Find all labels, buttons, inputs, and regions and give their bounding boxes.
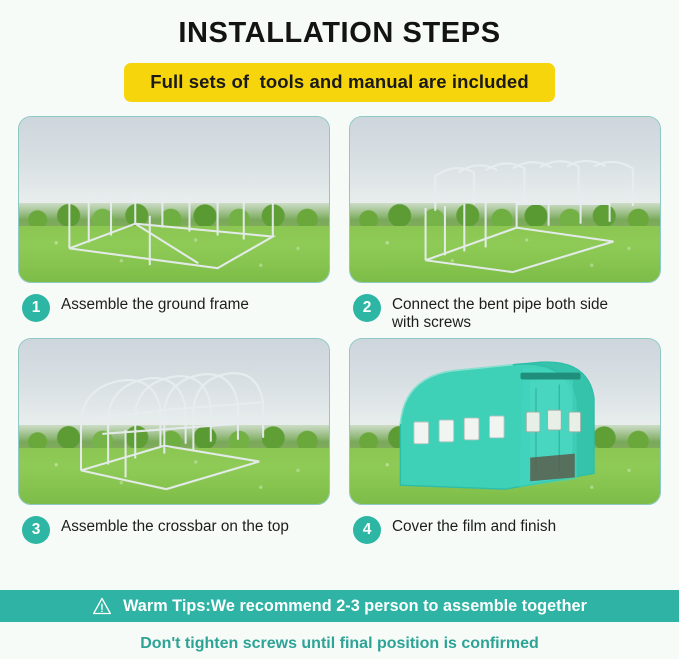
step-1-badge: 1 bbox=[22, 294, 50, 322]
step-4-caption-row: 4 Cover the film and finish bbox=[349, 505, 661, 557]
bent-pipe-illustration bbox=[350, 117, 660, 282]
step-3-photo bbox=[18, 338, 330, 505]
step-2-caption: Connect the bent pipe both side with scr… bbox=[392, 293, 608, 332]
step-4-caption: Cover the film and finish bbox=[392, 515, 556, 536]
step-2-badge: 2 bbox=[353, 294, 381, 322]
step-3-caption-row: 3 Assemble the crossbar on the top bbox=[18, 505, 330, 557]
ground-frame-illustration bbox=[19, 117, 329, 282]
steps-grid: 1 Assemble the ground frame bbox=[0, 116, 679, 557]
step-4-photo bbox=[349, 338, 661, 505]
warning-triangle-icon bbox=[92, 596, 112, 616]
step-card-2: 2 Connect the bent pipe both side with s… bbox=[349, 116, 661, 336]
step-card-1: 1 Assemble the ground frame bbox=[18, 116, 330, 336]
page-title: INSTALLATION STEPS bbox=[0, 0, 679, 50]
step-2-caption-row: 2 Connect the bent pipe both side with s… bbox=[349, 283, 661, 336]
step-4-badge: 4 bbox=[353, 516, 381, 544]
step-1-photo bbox=[18, 116, 330, 283]
step-card-4: 4 Cover the film and finish bbox=[349, 338, 661, 557]
greenhouse-body bbox=[400, 362, 594, 489]
step-3-badge: 3 bbox=[22, 516, 50, 544]
step-1-caption-row: 1 Assemble the ground frame bbox=[18, 283, 330, 335]
crossbar-frame-illustration bbox=[19, 339, 329, 504]
step-card-3: 3 Assemble the crossbar on the top bbox=[18, 338, 330, 557]
warm-tips-text: Warm Tips:We recommend 2-3 person to ass… bbox=[123, 597, 587, 616]
warm-tips-bar: Warm Tips:We recommend 2-3 person to ass… bbox=[0, 590, 679, 622]
step-2-photo bbox=[349, 116, 661, 283]
footnote-text: Don't tighten screws until final positio… bbox=[0, 635, 679, 653]
installation-steps-page: INSTALLATION STEPS Full sets of tools an… bbox=[0, 0, 679, 659]
finished-greenhouse-illustration bbox=[350, 339, 660, 504]
step-1-caption: Assemble the ground frame bbox=[61, 293, 249, 314]
banner-row: Full sets of tools and manual are includ… bbox=[0, 63, 679, 102]
step-3-caption: Assemble the crossbar on the top bbox=[61, 515, 289, 536]
included-banner: Full sets of tools and manual are includ… bbox=[124, 63, 554, 102]
